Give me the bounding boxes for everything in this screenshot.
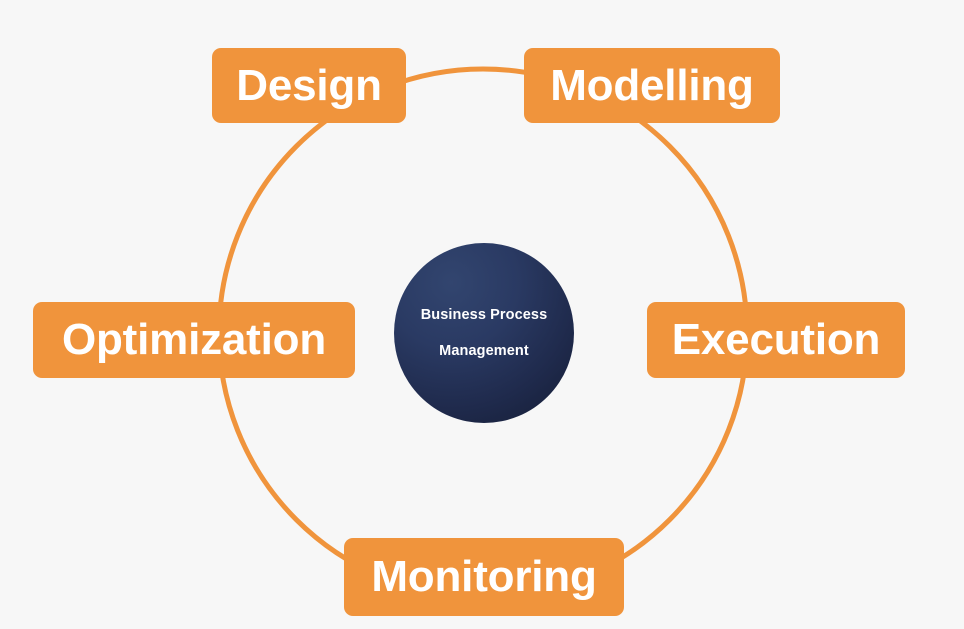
stage-modelling-label: Modelling [550, 64, 754, 108]
stage-modelling[interactable]: Modelling [524, 48, 780, 123]
stage-monitoring[interactable]: Monitoring [344, 538, 624, 616]
bpm-lifecycle-diagram: Design Modelling Execution Monitoring Op… [0, 0, 964, 629]
stage-execution-label: Execution [672, 318, 880, 362]
stage-design[interactable]: Design [212, 48, 406, 123]
stage-design-label: Design [236, 64, 382, 108]
center-hub: Business Process Management [394, 243, 574, 423]
stage-execution[interactable]: Execution [647, 302, 905, 378]
stage-monitoring-label: Monitoring [371, 555, 596, 599]
center-hub-line1: Business Process [421, 308, 548, 323]
stage-optimization-label: Optimization [62, 318, 326, 362]
stage-optimization[interactable]: Optimization [33, 302, 355, 378]
center-hub-line2: Management [439, 344, 529, 359]
